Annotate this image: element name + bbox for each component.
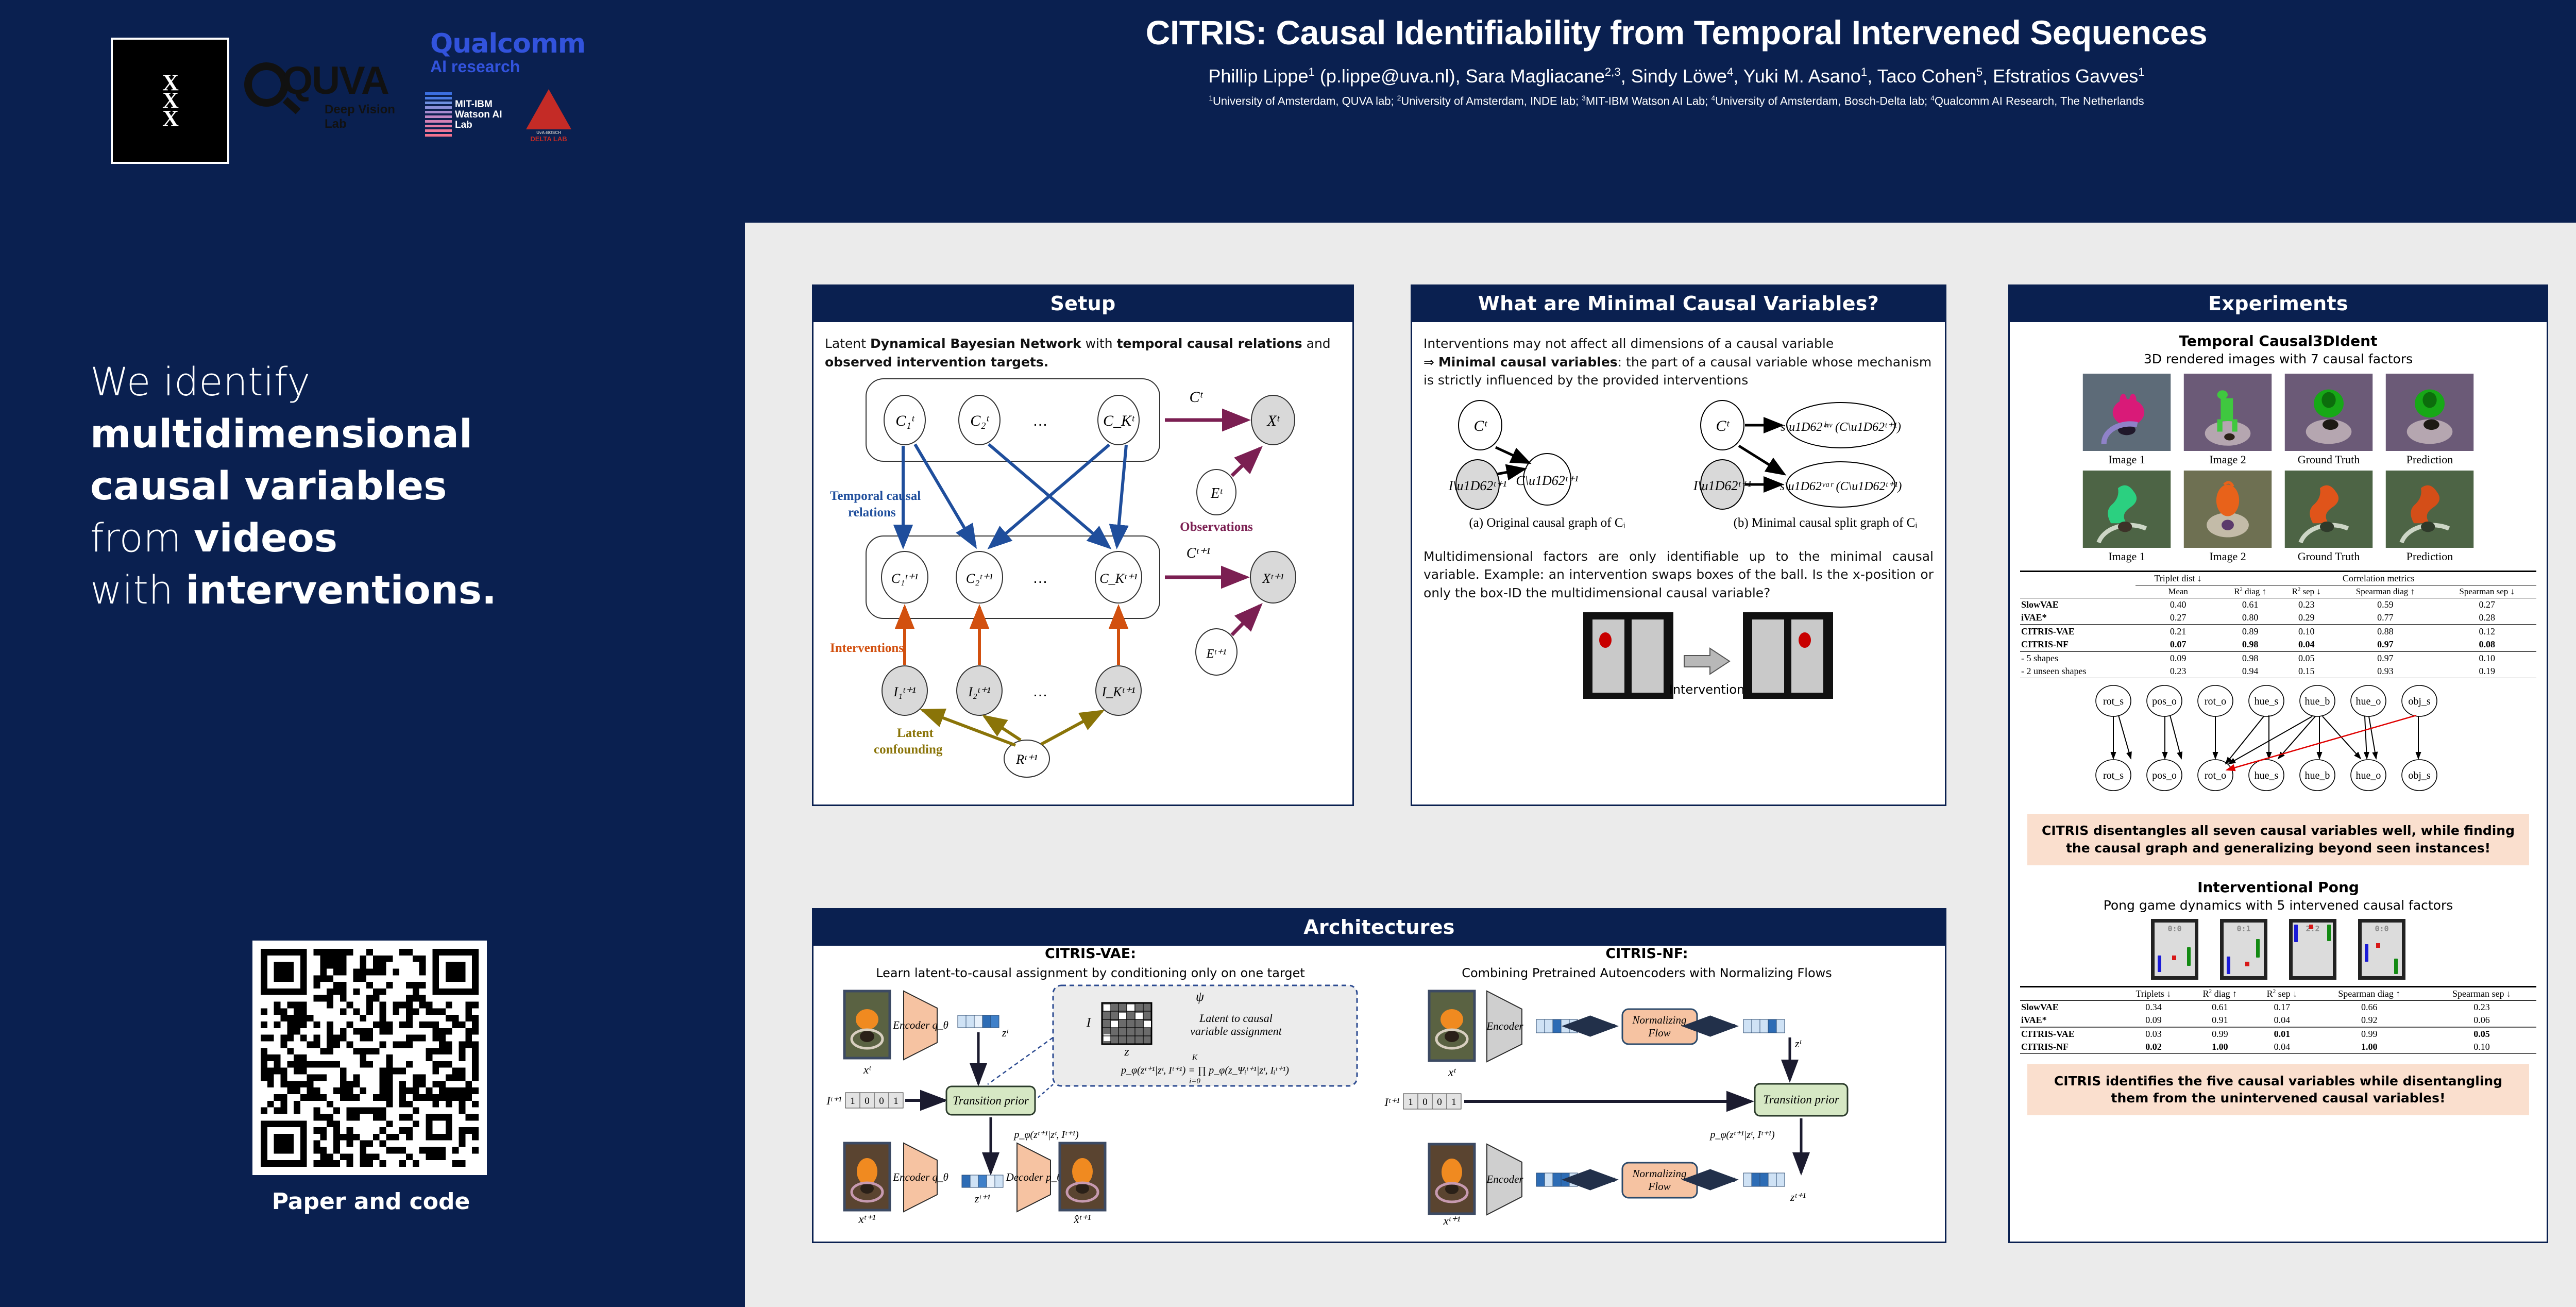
page-title: CITRIS: Causal Identifiability from Temp…	[745, 13, 2576, 52]
svg-text:zᵗ: zᵗ	[1794, 1037, 1802, 1050]
setup-edge-label-ct: Cᵗ	[1189, 389, 1203, 406]
mcv-paragraph-2: Multidimensional factors are only identi…	[1423, 547, 1934, 602]
quva-logo-subtext: Deep Vision Lab	[325, 103, 412, 131]
quva-logo: QUVA Deep Vision Lab	[242, 53, 412, 141]
exp-pong-title: Interventional Pong	[2020, 879, 2536, 896]
table-row: iVAE*0.270.800.290.770.28	[2020, 611, 2536, 625]
qualcomm-logo-subtext: AI research	[430, 57, 554, 76]
image-cell: Image 1	[2082, 471, 2171, 563]
caption: Prediction	[2385, 453, 2474, 466]
panel-arch-body: CITRIS-VAE: Learn latent-to-causal assig…	[814, 946, 1945, 1234]
tagline-line-4b: videos	[194, 515, 337, 561]
svg-text:Latent to causal: Latent to causal	[1199, 1012, 1273, 1025]
svg-text:zᵗ: zᵗ	[1002, 1026, 1009, 1039]
svg-text:I_Kᵗ⁺¹: I_Kᵗ⁺¹	[1101, 684, 1136, 699]
column-header: R2 sep ↓	[2252, 987, 2311, 1001]
mcv-caption-b: (b) Minimal causal split graph of Cᵢ	[1734, 516, 1918, 530]
row-label: CITRIS-NF	[2020, 638, 2136, 651]
arch-nf-diagram: xᵗ Encoder Normalizing Flow	[1372, 983, 1921, 1226]
svg-text:xᵗ: xᵗ	[863, 1063, 872, 1076]
column-header: Spearman sep ↓	[2427, 987, 2536, 1001]
svg-text:1: 1	[1408, 1097, 1413, 1108]
table-cell: 0.94	[2221, 665, 2280, 678]
svg-text:C_Kᵗ: C_Kᵗ	[1103, 412, 1135, 429]
svg-text:1: 1	[850, 1096, 855, 1107]
svg-text:i=0: i=0	[1189, 1077, 1200, 1085]
table-row: - 2 unseen shapes0.230.940.150.930.19	[2020, 665, 2536, 678]
svg-text:p_φ(zᵗ⁺¹|zᵗ, Iᵗ⁺¹) = ∏ p_φ(z_Ψ: p_φ(zᵗ⁺¹|zᵗ, Iᵗ⁺¹) = ∏ p_φ(z_Ψᵢᵗ⁺¹|zᵗ, I…	[1120, 1065, 1289, 1076]
table-cell: 0.15	[2280, 665, 2333, 678]
qualcomm-logo: Qualcomm AI research	[430, 28, 554, 76]
svg-text:zᵗ⁺¹: zᵗ⁺¹	[974, 1192, 990, 1205]
svg-text:p_φ(zᵗ⁺¹|zᵗ, Iᵗ⁺¹): p_φ(zᵗ⁺¹|zᵗ, Iᵗ⁺¹)	[1709, 1129, 1775, 1141]
svg-text:Encoder: Encoder	[1486, 1173, 1523, 1185]
thumb-image-1-row2	[2082, 471, 2171, 548]
graph-node-label: rot_s	[2103, 770, 2124, 781]
table-cell: 0.10	[2437, 651, 2536, 665]
table-cell: 0.23	[2427, 1000, 2536, 1014]
svg-text:Cᵗ: Cᵗ	[1716, 417, 1730, 434]
c3di-image-row-1: Image 1 Image 2	[2020, 374, 2536, 466]
pong-frame: 0:1	[2220, 919, 2267, 980]
table-row: SlowVAE0.400.610.230.590.27	[2020, 598, 2536, 612]
row-label: - 2 unseen shapes	[2020, 665, 2136, 678]
table-cell: 0.66	[2311, 1000, 2427, 1014]
panel-setup-body: Latent Dynamical Bayesian Network with t…	[814, 322, 1352, 784]
svg-text:Transition prior: Transition prior	[953, 1094, 1029, 1107]
pong-frame: 0:0	[2358, 919, 2405, 980]
svg-text:0: 0	[879, 1096, 884, 1107]
svg-text:ψ: ψ	[1196, 989, 1205, 1004]
svg-text:zᵗ⁺¹: zᵗ⁺¹	[1790, 1191, 1806, 1203]
table-cell: 0.23	[2280, 598, 2333, 612]
arch-nf-subtitle: Combining Pretrained Autoencoders with N…	[1372, 966, 1921, 980]
svg-text:…: …	[1032, 683, 1048, 700]
table-cell: 0.03	[2120, 1027, 2188, 1041]
row-label: SlowVAE	[2020, 1000, 2120, 1014]
column-header: Spearman sep ↓	[2437, 585, 2536, 598]
thumb-image-1-row1	[2082, 374, 2171, 451]
exp-c3di-subtitle: 3D rendered images with 7 causal factors	[2020, 351, 2536, 366]
mcv-line-2: ⇒ Minimal causal variables: the part of …	[1423, 353, 1934, 390]
qr-label: Paper and code	[252, 1188, 489, 1215]
table-cell: 0.04	[2252, 1041, 2311, 1054]
table-header-row: MeanR2 diag ↑R2 sep ↓Spearman diag ↑Spea…	[2020, 585, 2536, 598]
mit-ibm-bars-icon	[425, 92, 452, 144]
column-header: Triplets ↓	[2120, 987, 2188, 1001]
row-label: - 5 shapes	[2020, 651, 2136, 665]
table-group-header-row: Triplet dist ↓Correlation metrics	[2020, 572, 2536, 585]
table-cell: 0.98	[2221, 651, 2280, 665]
svg-text:I₂ᵗ⁺¹: I₂ᵗ⁺¹	[968, 684, 991, 699]
table-cell: 0.27	[2136, 611, 2221, 625]
tagline-line-2: multidimensional	[90, 411, 472, 457]
table-cell: 0.98	[2221, 638, 2280, 651]
table-cell: 1.00	[2311, 1041, 2427, 1054]
table-row: SlowVAE0.340.610.170.660.23	[2020, 1000, 2536, 1014]
mcv-intervention-label: Intervention	[1669, 682, 1744, 697]
svg-text:s\u1D62ⁱⁿᵛ (C\u1D62ᵗ⁺¹): s\u1D62ⁱⁿᵛ (C\u1D62ᵗ⁺¹)	[1781, 421, 1901, 434]
pong-frame: 0:0	[2151, 919, 2198, 980]
caption: Prediction	[2385, 550, 2474, 563]
delta-triangle-icon	[526, 89, 571, 129]
table-cell: 0.97	[2333, 651, 2437, 665]
graph-node-label: rot_o	[2205, 696, 2226, 707]
svg-text:Decoder p_θ: Decoder p_θ	[1006, 1171, 1062, 1183]
tagline-line-3: causal variables	[90, 463, 447, 509]
table-cell: 0.01	[2252, 1027, 2311, 1041]
svg-text:1: 1	[1451, 1097, 1456, 1108]
c3di-causal-graph: rot_spos_orot_ohue_shue_bhue_oobj_s rot_…	[2021, 681, 2536, 802]
panel-mcv-body: Interventions may not affect all dimensi…	[1412, 322, 1945, 710]
caption: Image 1	[2082, 453, 2171, 466]
table-cell: 0.61	[2187, 1000, 2252, 1014]
graph-node-label: pos_o	[2152, 696, 2177, 707]
table-cell: 0.09	[2120, 1014, 2188, 1027]
mcv-box-illustration: Intervention	[1423, 608, 1934, 703]
delta-lab-logo-text: UvA-BOSCH DELTA LAB	[518, 130, 580, 143]
svg-text:…: …	[1032, 569, 1048, 587]
group-header: Triplet dist ↓	[2136, 572, 2221, 585]
image-cell: Prediction	[2385, 374, 2474, 466]
svg-text:I\u1D62ᵗ⁺¹: I\u1D62ᵗ⁺¹	[1693, 478, 1752, 493]
svg-text:I₁ᵗ⁺¹: I₁ᵗ⁺¹	[893, 684, 916, 699]
svg-text:Normalizing: Normalizing	[1632, 1014, 1686, 1026]
row-label: iVAE*	[2020, 611, 2136, 625]
uva-coat-of-arms-icon: XXX	[162, 74, 178, 127]
table-cell: 0.12	[2437, 625, 2536, 638]
row-label: SlowVAE	[2020, 598, 2136, 612]
svg-text:Eᵗ⁺¹: Eᵗ⁺¹	[1206, 647, 1227, 661]
panel-arch-title: Architectures	[814, 910, 1945, 946]
pong-score: 0:1	[2236, 924, 2250, 933]
qualcomm-logo-text: Qualcomm	[430, 28, 554, 59]
graph-node-label: hue_b	[2305, 696, 2330, 707]
table-cell: 0.97	[2333, 638, 2437, 651]
group-header: Correlation metrics	[2221, 572, 2536, 585]
svg-text:Xᵗ: Xᵗ	[1266, 412, 1280, 429]
svg-text:Flow: Flow	[1648, 1027, 1670, 1039]
svg-text:…: …	[1032, 412, 1048, 429]
qr-section: Paper and code	[252, 941, 489, 1215]
column-header: Spearman diag ↑	[2311, 987, 2427, 1001]
table-cell: 0.29	[2280, 611, 2333, 625]
image-cell: Image 1	[2082, 374, 2171, 466]
svg-text:Temporal causal: Temporal causal	[830, 489, 921, 503]
image-cell: Prediction	[2385, 471, 2474, 563]
tagline-line-1: We identify	[90, 359, 310, 405]
table-cell: 0.04	[2252, 1014, 2311, 1027]
arch-nf-title: CITRIS-NF:	[1372, 946, 1921, 962]
graph-node-label: hue_s	[2255, 770, 2279, 781]
panel-mcv-title: What are Minimal Causal Variables?	[1412, 286, 1945, 322]
table-row: - 5 shapes0.090.980.050.970.10	[2020, 651, 2536, 665]
svg-text:Interventions: Interventions	[830, 641, 904, 655]
svg-text:1: 1	[893, 1096, 899, 1107]
table-cell: 0.77	[2333, 611, 2437, 625]
table-cell: 0.99	[2311, 1027, 2427, 1041]
panel-exp-body: Temporal Causal3DIdent 3D rendered image…	[2010, 322, 2547, 1122]
graph-node-label: hue_s	[2255, 696, 2279, 707]
table-header-row: Triplets ↓R2 diag ↑R2 sep ↓Spearman diag…	[2020, 987, 2536, 1001]
svg-text:Rᵗ⁺¹: Rᵗ⁺¹	[1015, 752, 1038, 767]
panel-exp-title: Experiments	[2010, 286, 2547, 322]
authors-line: Phillip Lippe1 (p.lippe@uva.nl), Sara Ma…	[745, 65, 2576, 87]
pong-score: 0:0	[2375, 924, 2388, 933]
svg-text:C₂ᵗ⁺¹: C₂ᵗ⁺¹	[966, 571, 993, 586]
svg-text:xᵗ⁺¹: xᵗ⁺¹	[858, 1213, 875, 1226]
table-cell: 0.80	[2221, 611, 2280, 625]
table-cell: 0.34	[2120, 1000, 2188, 1014]
panel-architectures: Architectures CITRIS-VAE: Learn latent-t…	[812, 908, 1946, 1243]
svg-text:Transition prior: Transition prior	[1763, 1093, 1840, 1106]
graph-node-label: pos_o	[2152, 770, 2177, 781]
svg-text:xᵗ⁺¹: xᵗ⁺¹	[1443, 1214, 1460, 1226]
image-cell: Image 2	[2183, 374, 2272, 466]
graph-node-label: obj_s	[2408, 770, 2431, 781]
svg-text:Xᵗ⁺¹: Xᵗ⁺¹	[1262, 571, 1284, 586]
svg-text:Encoder: Encoder	[1486, 1020, 1523, 1032]
tagline-line-5a: with	[90, 567, 185, 613]
tagline-line-5b: interventions.	[185, 567, 497, 613]
column-header: R2 sep ↓	[2280, 585, 2333, 598]
graph-node-label: obj_s	[2408, 696, 2431, 707]
c3di-image-row-2: Image 1 Image 2 Groun	[2020, 471, 2536, 563]
table-cell: 0.19	[2437, 665, 2536, 678]
table-cell: 0.99	[2187, 1027, 2252, 1041]
svg-text:Flow: Flow	[1648, 1180, 1670, 1193]
column-header: Spearman diag ↑	[2333, 585, 2437, 598]
image-cell: Ground Truth	[2284, 471, 2373, 563]
svg-text:C₁ᵗ: C₁ᵗ	[895, 412, 914, 429]
delta-lab-sub-text: UvA-BOSCH	[518, 130, 580, 135]
table-cell: 0.23	[2136, 665, 2221, 678]
row-label: CITRIS-NF	[2020, 1041, 2120, 1054]
table-cell: 0.27	[2437, 598, 2536, 612]
table-cell: 0.09	[2136, 651, 2221, 665]
setup-causal-graph: C₁ᵗ C₂ᵗ … C_Kᵗ C₁ᵗ⁺¹ C₂ᵗ⁺¹ … C_Kᵗ⁺¹ I₁ᵗ⁺…	[825, 371, 1340, 778]
image-cell: Ground Truth	[2284, 374, 2373, 466]
table-row: CITRIS-VAE0.210.890.100.880.12	[2020, 625, 2536, 638]
svg-text:0: 0	[865, 1096, 870, 1107]
qr-code[interactable]	[252, 941, 487, 1175]
panel-setup: Setup Latent Dynamical Bayesian Network …	[812, 284, 1354, 806]
svg-text:C₂ᵗ: C₂ᵗ	[970, 412, 989, 429]
table-cell: 0.21	[2136, 625, 2221, 638]
svg-text:Eᵗ: Eᵗ	[1210, 485, 1223, 501]
table-cell: 0.05	[2427, 1027, 2536, 1041]
mit-ibm-logo: MIT-IBM Watson AI Lab	[425, 90, 502, 147]
table-cell: 0.88	[2333, 625, 2437, 638]
mcv-line-1: Interventions may not affect all dimensi…	[1423, 334, 1934, 353]
table-cell: 0.07	[2136, 638, 2221, 651]
table-cell: 0.91	[2187, 1014, 2252, 1027]
arch-column-vae: CITRIS-VAE: Learn latent-to-causal assig…	[814, 946, 1367, 1226]
table-cell: 0.02	[2120, 1041, 2188, 1054]
thumb-prediction-row1	[2385, 374, 2474, 451]
setup-description: Latent Dynamical Bayesian Network with t…	[825, 334, 1341, 371]
tagline: We identify multidimensional causal vari…	[90, 356, 698, 616]
caption: Ground Truth	[2284, 453, 2373, 466]
table-cell: 0.10	[2427, 1041, 2536, 1054]
svg-text:x̂ᵗ⁺¹: x̂ᵗ⁺¹	[1073, 1213, 1091, 1226]
mit-ibm-logo-text: MIT-IBM Watson AI Lab	[455, 99, 502, 130]
svg-text:Iᵗ⁺¹: Iᵗ⁺¹	[826, 1094, 841, 1107]
table-cell: 0.59	[2333, 598, 2437, 612]
caption: Image 1	[2082, 550, 2171, 563]
table-cell: 0.28	[2437, 611, 2536, 625]
table-cell: 0.40	[2136, 598, 2221, 612]
logo-row: XXX QUVA Deep Vision Lab Qualcomm AI res…	[111, 28, 626, 170]
pong-frame: 2:2	[2289, 919, 2336, 980]
table-cell: 0.05	[2280, 651, 2333, 665]
svg-text:relations: relations	[848, 506, 896, 520]
svg-text:s\u1D62ᵛᵃʳ (C\u1D62ᵗ⁺¹): s\u1D62ᵛᵃʳ (C\u1D62ᵗ⁺¹)	[1780, 480, 1902, 493]
mcv-graphs: Cᵗ C\u1D62ᵗ⁺¹ I\u1D62ᵗ⁺¹ (a) Original ca…	[1423, 397, 1934, 536]
uva-logo: XXX	[111, 38, 229, 164]
table-row: CITRIS-NF0.070.980.040.970.08	[2020, 638, 2536, 651]
panel-minimal-causal-variables: What are Minimal Causal Variables? Inter…	[1411, 284, 1946, 806]
exp-highlight-2: CITRIS identifies the five causal variab…	[2027, 1064, 2529, 1116]
quva-logo-text: QUVA	[282, 58, 388, 103]
graph-node-label: rot_s	[2103, 696, 2124, 707]
setup-edge-label-ct1: Cᵗ⁺¹	[1187, 545, 1211, 561]
mcv-caption-a: (a) Original causal graph of Cᵢ	[1469, 516, 1625, 530]
pong-image-row: 0:0 0:1 2:2	[2020, 919, 2536, 980]
svg-text:0: 0	[1422, 1097, 1428, 1108]
graph-node-label: hue_o	[2356, 770, 2381, 781]
arch-vae-diagram: xᵗ Encoder q_θ zᵗ Iᵗ⁺¹ 1	[814, 983, 1367, 1226]
thumb-ground-truth-row2	[2284, 471, 2373, 548]
caption: Image 2	[2183, 550, 2272, 563]
table-cell: 0.17	[2252, 1000, 2311, 1014]
graph-node-label: hue_o	[2356, 696, 2381, 707]
svg-text:Encoder q_θ: Encoder q_θ	[892, 1171, 948, 1183]
title-block: CITRIS: Causal Identifiability from Temp…	[745, 13, 2576, 108]
svg-text:C_Kᵗ⁺¹: C_Kᵗ⁺¹	[1099, 571, 1138, 586]
svg-text:C₁ᵗ⁺¹: C₁ᵗ⁺¹	[891, 571, 918, 586]
svg-text:Cᵗ: Cᵗ	[1473, 417, 1487, 434]
row-label: iVAE*	[2020, 1014, 2120, 1027]
panel-experiments: Experiments Temporal Causal3DIdent 3D re…	[2008, 284, 2548, 1243]
table-cell: 1.00	[2187, 1041, 2252, 1054]
table-row: iVAE*0.090.910.040.920.06	[2020, 1014, 2536, 1027]
table-cell: 0.10	[2280, 625, 2333, 638]
thumb-image-2-row2	[2183, 471, 2272, 548]
table-cell: 0.61	[2221, 598, 2280, 612]
affiliations-line: 1University of Amsterdam, QUVA lab; 2Uni…	[745, 94, 2576, 108]
table-causal3dident-results: Triplet dist ↓Correlation metricsMeanR2 …	[2020, 571, 2536, 678]
svg-text:xᵗ: xᵗ	[1448, 1066, 1456, 1079]
table-bottom-rule	[2020, 1053, 2536, 1054]
column-header: R2 diag ↑	[2221, 585, 2280, 598]
table-row: CITRIS-VAE0.030.990.010.990.05	[2020, 1027, 2536, 1041]
svg-text:Latent: Latent	[897, 726, 934, 740]
image-cell: Image 2	[2183, 471, 2272, 563]
graph-node-label: rot_o	[2205, 770, 2226, 781]
svg-text:C\u1D62ᵗ⁺¹: C\u1D62ᵗ⁺¹	[1516, 473, 1578, 488]
svg-text:Observations: Observations	[1180, 520, 1253, 534]
row-label: CITRIS-VAE	[2020, 625, 2136, 638]
delta-lab-logo: UvA-BOSCH DELTA LAB	[518, 89, 580, 148]
table-cell: 0.04	[2280, 638, 2333, 651]
pong-score: 0:0	[2167, 924, 2181, 933]
svg-text:p_φ(zᵗ⁺¹|zᵗ, Iᵗ⁺¹): p_φ(zᵗ⁺¹|zᵗ, Iᵗ⁺¹)	[1013, 1129, 1079, 1141]
table-cell: 0.93	[2333, 665, 2437, 678]
arch-matrix-col-label: z	[1124, 1045, 1129, 1059]
svg-text:confounding: confounding	[874, 743, 943, 757]
exp-c3di-title: Temporal Causal3DIdent	[2020, 332, 2536, 349]
svg-text:Encoder q_θ: Encoder q_θ	[892, 1019, 948, 1031]
table-row: CITRIS-NF0.021.000.041.000.10	[2020, 1041, 2536, 1054]
table-cell: 0.06	[2427, 1014, 2536, 1027]
svg-text:K: K	[1192, 1053, 1198, 1062]
thumb-image-2-row1	[2183, 374, 2272, 451]
graph-node-label: hue_b	[2305, 770, 2330, 781]
arch-column-nf: CITRIS-NF: Combining Pretrained Autoenco…	[1372, 946, 1921, 1226]
arch-vae-subtitle: Learn latent-to-causal assignment by con…	[814, 966, 1367, 980]
table-cell: 0.89	[2221, 625, 2280, 638]
caption: Ground Truth	[2284, 550, 2373, 563]
table-cell: 0.08	[2437, 638, 2536, 651]
thumb-prediction-row2	[2385, 471, 2474, 548]
exp-pong-subtitle: Pong game dynamics with 5 intervened cau…	[2020, 898, 2536, 913]
arch-vae-title: CITRIS-VAE:	[814, 946, 1367, 962]
svg-text:0: 0	[1437, 1097, 1442, 1108]
svg-text:I\u1D62ᵗ⁺¹: I\u1D62ᵗ⁺¹	[1448, 478, 1507, 493]
svg-text:Normalizing: Normalizing	[1632, 1167, 1686, 1180]
table-pong-results: Triplets ↓R2 diag ↑R2 sep ↓Spearman diag…	[2020, 986, 2536, 1054]
caption: Image 2	[2183, 453, 2272, 466]
table-bottom-rule	[2020, 678, 2536, 679]
qr-code-canvas	[261, 949, 479, 1167]
tagline-line-4a: from	[90, 515, 194, 561]
panel-setup-title: Setup	[814, 286, 1352, 322]
table-cell: 0.92	[2311, 1014, 2427, 1027]
svg-text:variable assignment: variable assignment	[1190, 1025, 1282, 1037]
row-label: CITRIS-VAE	[2020, 1027, 2120, 1041]
svg-text:Iᵗ⁺¹: Iᵗ⁺¹	[1384, 1096, 1399, 1109]
column-header: Mean	[2136, 585, 2221, 598]
column-header: R2 diag ↑	[2187, 987, 2252, 1001]
thumb-ground-truth-row1	[2284, 374, 2373, 451]
exp-highlight-1: CITRIS disentangles all seven causal var…	[2027, 814, 2529, 865]
